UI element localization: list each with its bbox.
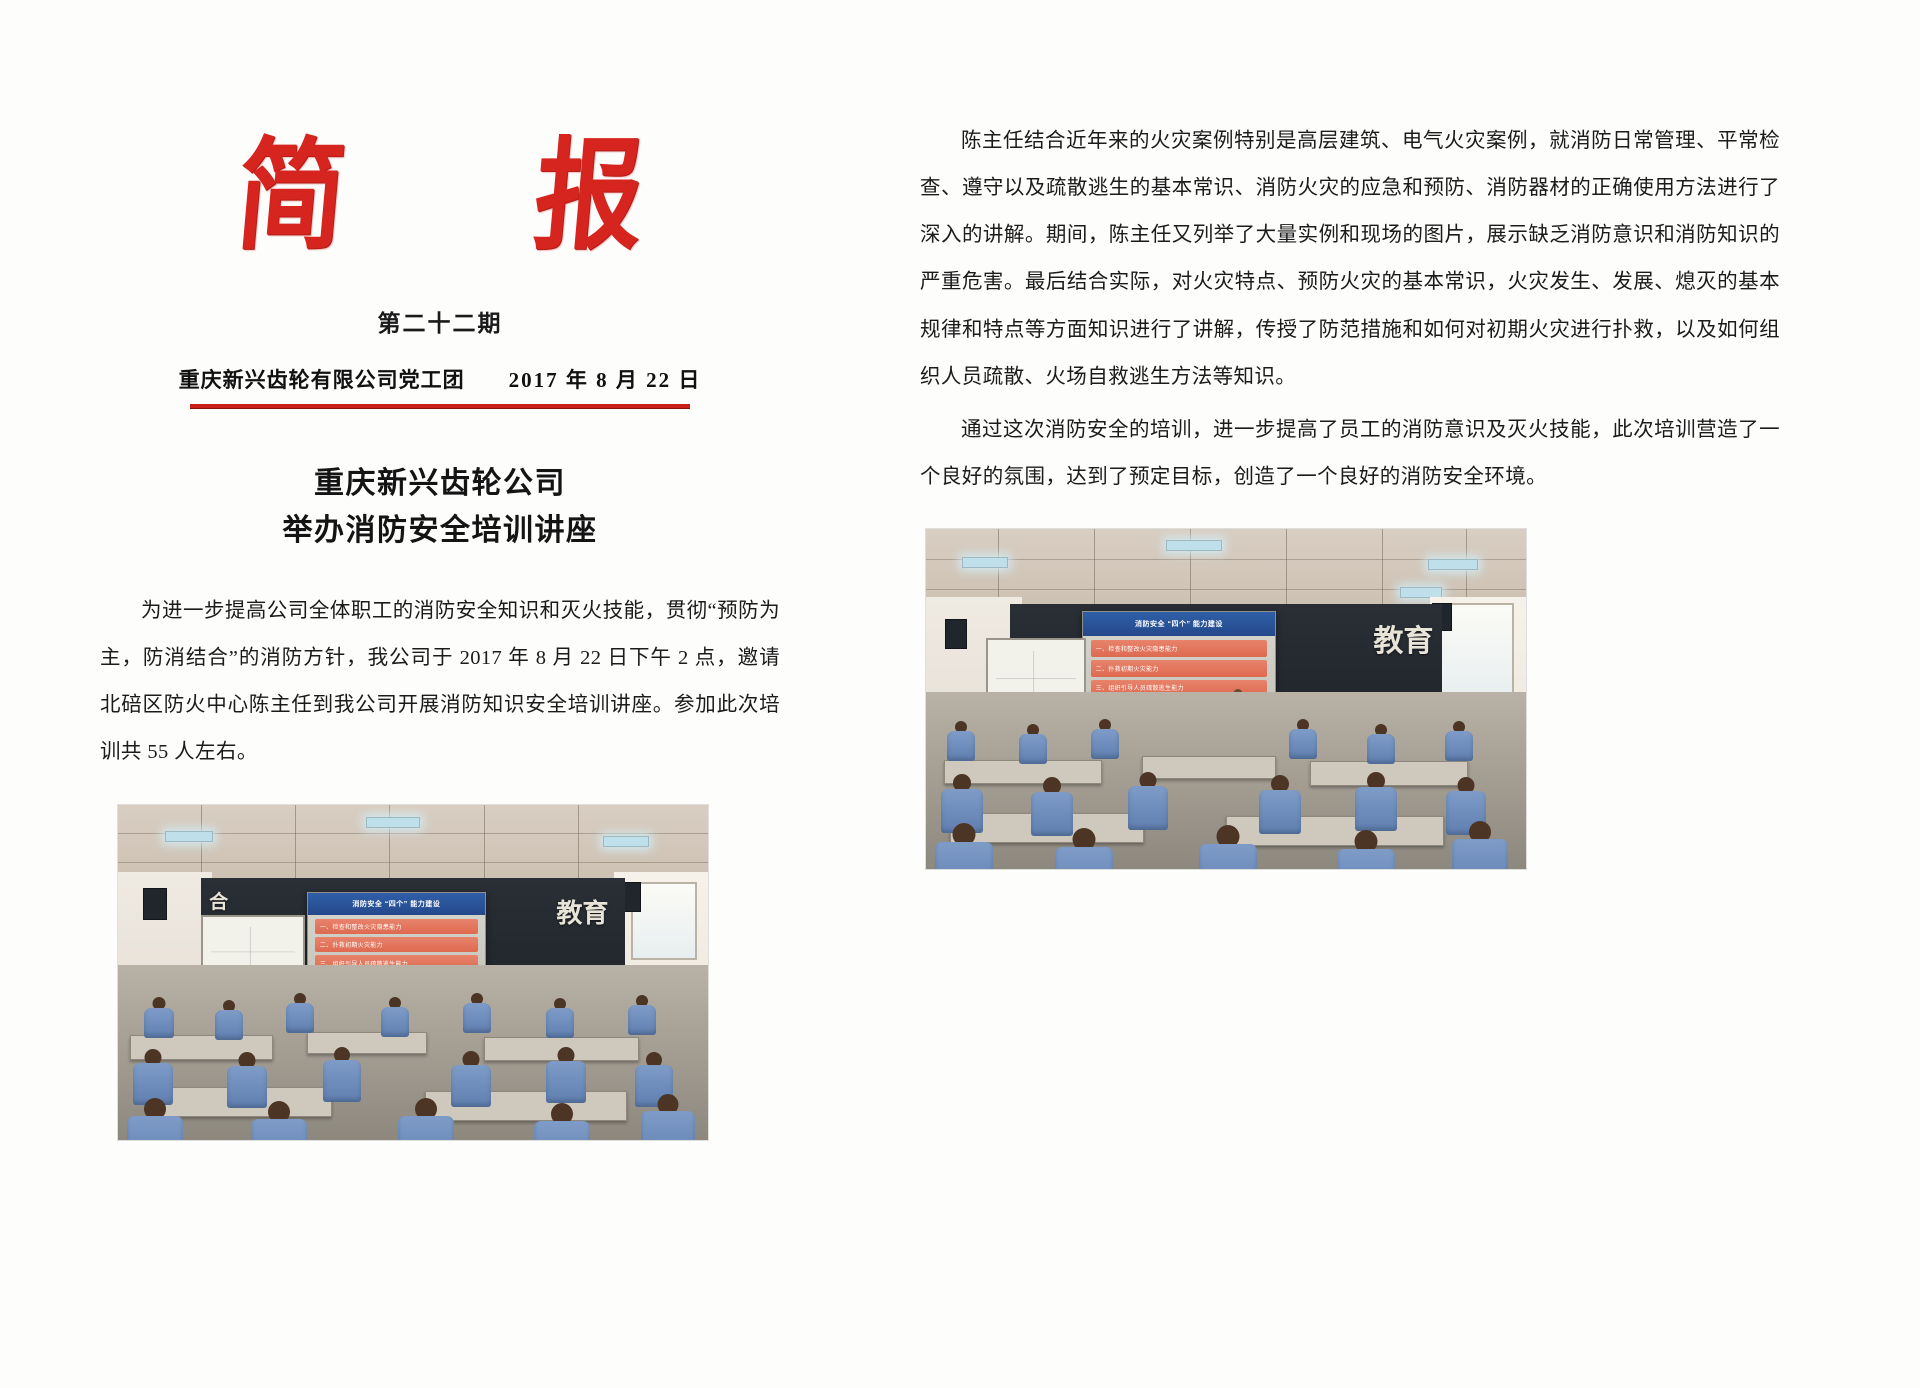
attendee — [1124, 772, 1172, 828]
attendee — [531, 1103, 593, 1140]
speaker-icon — [143, 888, 167, 920]
publication-date: 2017 年 8 月 22 日 — [509, 364, 702, 394]
attendee — [1196, 825, 1260, 869]
attendee — [448, 1051, 494, 1105]
audience-area — [926, 692, 1526, 869]
attendee — [1334, 830, 1398, 869]
paragraph: 陈主任结合近年来的火灾案例特别是高层建筑、电气火灾案例，就消防日常管理、平常检查… — [920, 118, 1780, 401]
right-body-text: 陈主任结合近年来的火灾案例特别是高层建筑、电气火灾案例，就消防日常管理、平常检查… — [920, 118, 1780, 501]
wall-banner-text: 教育 — [556, 893, 608, 930]
attendee — [130, 1049, 176, 1103]
attendee — [1442, 721, 1476, 761]
slide-bullet: 一、检查和整改火灾隐患能力 — [1091, 640, 1268, 657]
wall-banner-text-left: 合 — [209, 887, 228, 914]
attendee — [932, 823, 996, 869]
fire-safety-training-classroom-photo-1: 合 教育 消防安全 “四个” 能力建设 一、检查和整改火灾隐患能力 二、扑救初期… — [118, 805, 708, 1140]
attendee — [212, 1000, 246, 1040]
slide-bullet: 二、扑救初期火灾能力 — [1091, 660, 1268, 677]
attendee — [1286, 719, 1320, 759]
attendee — [625, 995, 659, 1035]
paragraph: 通过这次消防安全的培训，进一步提高了员工的消防意识及灭火技能，此次培训营造了一个… — [920, 407, 1780, 501]
bulletin-page: 简 报 第二十二期 重庆新兴齿轮有限公司党工团 2017 年 8 月 22 日 … — [0, 0, 1920, 1388]
left-body-text: 为进一步提高公司全体职工的消防安全知识和灭火技能，贯彻“预防为主，防消结合”的消… — [100, 588, 780, 777]
attendee — [938, 774, 986, 830]
attendee — [224, 1052, 270, 1106]
attendee — [1256, 775, 1304, 831]
left-column: 简 报 第二十二期 重庆新兴齿轮有限公司党工团 2017 年 8 月 22 日 … — [0, 0, 860, 1388]
page-title: 重庆新兴齿轮公司 举办消防安全培训讲座 — [100, 461, 780, 554]
speaker-icon — [945, 619, 967, 649]
attendee — [1016, 724, 1050, 764]
attendee — [1448, 821, 1512, 869]
red-divider-rule — [190, 404, 690, 409]
attendee — [1352, 772, 1400, 828]
attendee — [142, 997, 176, 1037]
issue-number: 第二十二期 — [100, 304, 780, 338]
byline: 重庆新兴齿轮有限公司党工团 2017 年 8 月 22 日 — [100, 364, 780, 394]
attendee — [1052, 828, 1116, 869]
slide-bullet: 一、检查和整改火灾隐患能力 — [315, 919, 478, 934]
wall-banner-text: 教育 — [1373, 616, 1433, 660]
publisher-name: 重庆新兴齿轮有限公司党工团 — [179, 364, 465, 394]
masthead-title: 简 报 — [94, 133, 785, 260]
attendee — [460, 993, 494, 1033]
attendee — [248, 1101, 310, 1139]
right-column: 陈主任结合近年来的火灾案例特别是高层建筑、电气火灾案例，就消防日常管理、平常检查… — [860, 0, 1920, 1388]
attendee — [944, 721, 978, 761]
masthead: 简 报 — [100, 140, 780, 270]
attendee — [395, 1098, 457, 1140]
attendee — [1028, 777, 1076, 833]
attendee — [637, 1094, 699, 1139]
attendee — [283, 993, 317, 1033]
attendee — [319, 1047, 365, 1101]
attendee — [378, 997, 412, 1037]
attendee — [1088, 719, 1122, 759]
slide-title: 消防安全 “四个” 能力建设 — [1083, 612, 1275, 636]
attendee — [124, 1098, 186, 1140]
paragraph: 为进一步提高公司全体职工的消防安全知识和灭火技能，贯彻“预防为主，防消结合”的消… — [100, 588, 780, 777]
attendee — [543, 1047, 589, 1101]
fire-safety-training-classroom-photo-2: 教育 消防安全 “四个” 能力建设 一、检查和整改火灾隐患能力 二、扑救初期火灾… — [926, 529, 1526, 869]
slide-bullet: 二、扑救初期火灾能力 — [315, 937, 478, 952]
attendee — [1364, 724, 1398, 764]
audience-area — [118, 965, 708, 1139]
slide-title: 消防安全 “四个” 能力建设 — [308, 893, 485, 915]
headline-line-2: 举办消防安全培训讲座 — [100, 508, 780, 555]
headline-line-1: 重庆新兴齿轮公司 — [100, 461, 780, 508]
attendee — [543, 998, 577, 1038]
